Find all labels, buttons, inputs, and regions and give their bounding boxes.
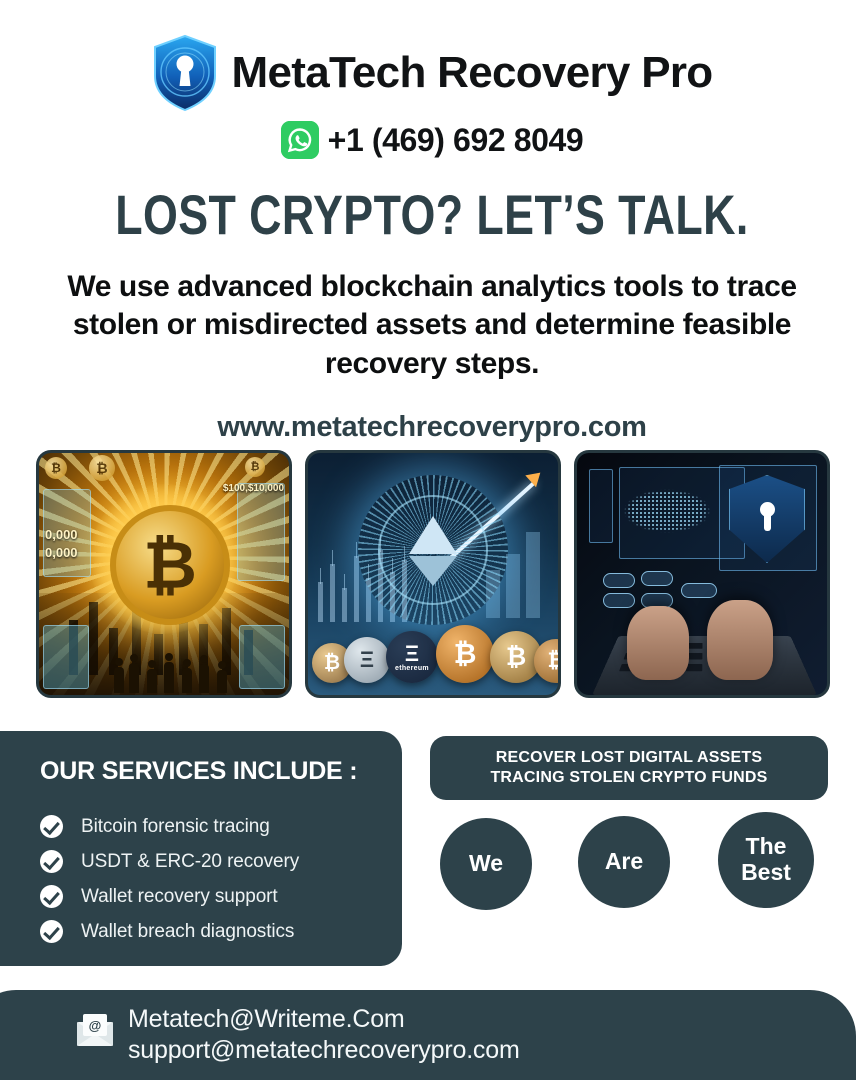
- brand-name: MetaTech Recovery Pro: [232, 51, 713, 95]
- coin-row: ₿ Ξ Ξ ethereum ₿ ₿ ₿: [308, 617, 558, 689]
- footer: @ Metatech@Writeme.Com support@metatechr…: [0, 990, 856, 1080]
- services-list: Bitcoin forensic tracing USDT & ERC-20 r…: [40, 809, 380, 949]
- check-circle-icon: [40, 920, 63, 943]
- promo-circle-the-best-label: The Best: [736, 834, 796, 886]
- email-secondary[interactable]: support@metatechrecoverypro.com: [128, 1035, 520, 1066]
- bitcoin-coin-icon: ₿: [110, 505, 230, 625]
- list-item: Wallet recovery support: [40, 879, 380, 914]
- ticker-value-a: 0,000: [45, 527, 78, 542]
- image-gallery: ₿ ₿ ₿ ₿ $100,$10,000 0,000 0,000: [36, 450, 830, 698]
- right-screen: [237, 483, 285, 581]
- shield-keyhole-icon: [152, 34, 218, 112]
- service-label: Wallet recovery support: [81, 886, 278, 908]
- coin-eth-1: Ξ: [344, 637, 390, 683]
- bitcoin-glow-image: ₿ ₿ ₿ ₿ $100,$10,000 0,000 0,000: [36, 450, 292, 698]
- check-circle-icon: [40, 815, 63, 838]
- check-circle-icon: [40, 850, 63, 873]
- coin-btc-2: ₿: [436, 625, 494, 683]
- email-envelope-icon: @: [75, 1014, 115, 1046]
- check-circle-icon: [40, 885, 63, 908]
- hero-subcopy: We use advanced blockchain analytics too…: [52, 268, 812, 383]
- small-coin-top-right: ₿: [245, 457, 265, 477]
- ticker-value-b: 0,000: [45, 545, 78, 560]
- promo-circle-we: We: [440, 818, 532, 910]
- promo-badge-line1: RECOVER LOST DIGITAL ASSETS: [496, 749, 762, 767]
- service-label: Bitcoin forensic tracing: [81, 816, 270, 838]
- list-item: Bitcoin forensic tracing: [40, 809, 380, 844]
- list-item: USDT & ERC-20 recovery: [40, 844, 380, 879]
- network-node-3: [603, 593, 635, 608]
- ethereum-hologram-image: ₿ Ξ Ξ ethereum ₿ ₿ ₿: [305, 450, 561, 698]
- small-coin-top-left: ₿: [45, 457, 67, 479]
- crowd-silhouettes: [39, 655, 289, 693]
- whatsapp-icon[interactable]: [281, 121, 319, 159]
- phone-row[interactable]: +1 (469) 692 8049: [0, 121, 864, 159]
- phone-number[interactable]: +1 (469) 692 8049: [328, 124, 584, 156]
- promo-badge: RECOVER LOST DIGITAL ASSETS TRACING STOL…: [430, 736, 828, 800]
- promo-badge-line2: TRACING STOLEN CRYPTO FUNDS: [490, 769, 767, 787]
- service-label: USDT & ERC-20 recovery: [81, 851, 299, 873]
- ethereum-symbol-top: [409, 516, 457, 554]
- flyer-canvas: MetaTech Recovery Pro +1 (469) 692 8049 …: [0, 0, 864, 1080]
- email-primary[interactable]: Metatech@Writeme.Com: [128, 1004, 520, 1035]
- service-label: Wallet breach diagnostics: [81, 921, 294, 943]
- keyhole-icon: [760, 502, 775, 517]
- services-panel: OUR SERVICES INCLUDE : Bitcoin forensic …: [0, 731, 402, 966]
- services-title: OUR SERVICES INCLUDE :: [40, 757, 357, 786]
- bitcoin-symbol: ₿: [143, 532, 197, 598]
- cyber-security-laptop-image: [574, 450, 830, 698]
- promo-circle-the-best: The Best: [718, 812, 814, 908]
- network-node-1: [603, 573, 635, 588]
- promo-circle-are: Are: [578, 816, 670, 908]
- network-node-2: [641, 571, 673, 586]
- header: MetaTech Recovery Pro +1 (469) 692 8049: [0, 34, 864, 159]
- small-coin-top-mid: ₿: [89, 455, 115, 481]
- brand-row: MetaTech Recovery Pro: [0, 34, 864, 112]
- price-label: $100,$10,000: [223, 483, 284, 494]
- promo-circles: We Are The Best: [430, 812, 830, 917]
- website-url[interactable]: www.metatechrecoverypro.com: [0, 411, 864, 444]
- network-node-5: [681, 583, 717, 598]
- world-map-icon: [607, 479, 727, 543]
- hand-left: [627, 606, 689, 680]
- page-title: LOST CRYPTO? LET’S TALK.: [86, 182, 777, 247]
- coin-eth-label: ethereum: [395, 665, 429, 672]
- list-item: Wallet breach diagnostics: [40, 914, 380, 949]
- email-list: Metatech@Writeme.Com support@metatechrec…: [128, 1004, 520, 1066]
- laptop-keyboard: [592, 636, 817, 695]
- ethereum-symbol-bottom: [409, 556, 457, 586]
- hand-right: [707, 600, 773, 680]
- coin-eth-2: Ξ ethereum: [386, 631, 438, 683]
